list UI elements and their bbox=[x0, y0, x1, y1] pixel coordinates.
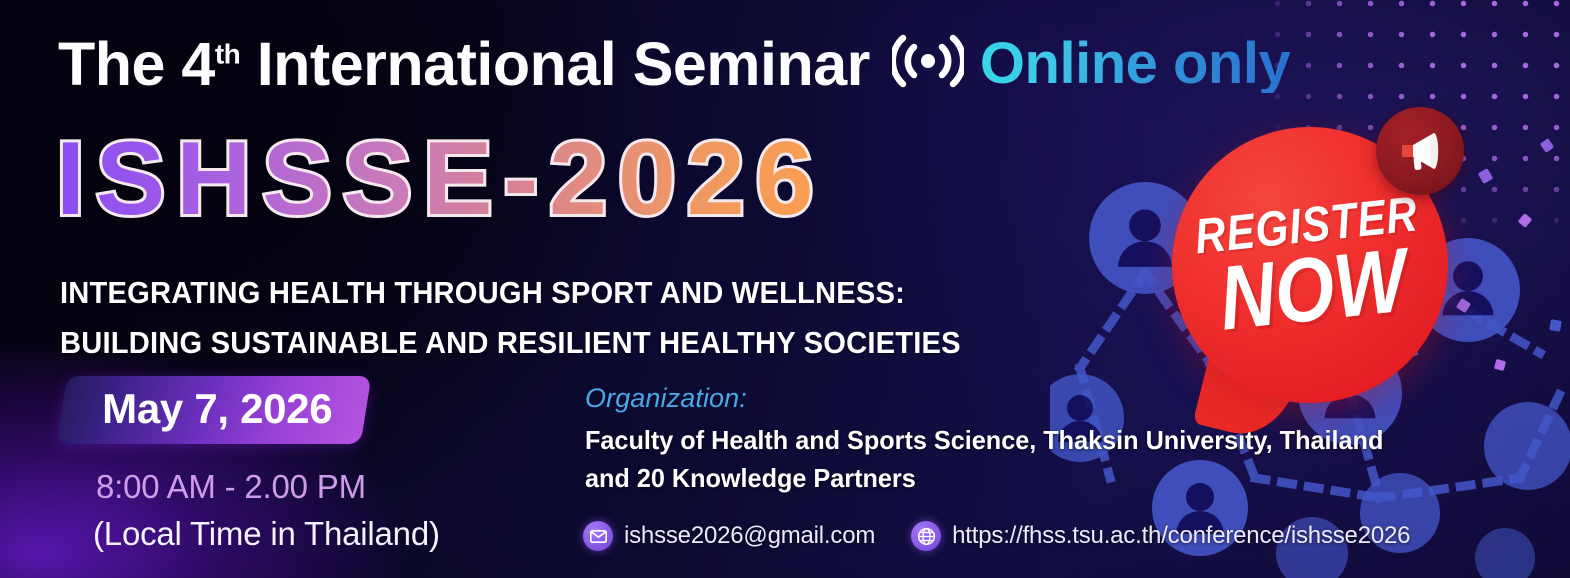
contact-website-text: https://fhss.tsu.ac.th/conference/ishsse… bbox=[952, 522, 1410, 550]
seminar-title-ordinal: th bbox=[215, 38, 240, 69]
seminar-title-suffix: International Seminar bbox=[240, 30, 870, 98]
register-now-button[interactable]: REGISTER NOW bbox=[1172, 127, 1448, 403]
globe-icon bbox=[911, 521, 941, 551]
contact-email-text: ishsse2026@gmail.com bbox=[624, 522, 875, 550]
event-acronym: ISHSSE-2026 bbox=[56, 127, 824, 231]
now-label: NOW bbox=[1215, 236, 1410, 341]
organization-line-1: Faculty of Health and Sports Science, Th… bbox=[585, 422, 1383, 460]
conference-banner: The 4th International Seminar Online onl… bbox=[0, 0, 1570, 578]
contact-website[interactable]: https://fhss.tsu.ac.th/conference/ishsse… bbox=[911, 521, 1410, 551]
envelope-icon bbox=[583, 521, 613, 551]
event-time-label: 8:00 AM - 2.00 PM bbox=[96, 468, 366, 506]
event-date-label: May 7, 2026 bbox=[102, 387, 332, 431]
organization-line-2: and 20 Knowledge Partners bbox=[585, 460, 1383, 498]
page-title: The 4th International Seminar bbox=[58, 34, 870, 95]
seminar-title-prefix: The 4 bbox=[58, 30, 215, 98]
organization-name: Faculty of Health and Sports Science, Th… bbox=[585, 422, 1383, 498]
broadcast-signal-icon bbox=[892, 33, 964, 89]
megaphone-icon bbox=[1376, 107, 1464, 195]
event-date-badge: May 7, 2026 bbox=[57, 376, 372, 444]
online-only-label: Online only bbox=[980, 35, 1290, 93]
contact-row: ishsse2026@gmail.com https://fhss.tsu.ac… bbox=[583, 521, 1410, 551]
subtitle-line-1: INTEGRATING HEALTH THROUGH SPORT AND WEL… bbox=[60, 268, 961, 318]
event-timezone-note: (Local Time in Thailand) bbox=[93, 515, 440, 553]
headline-row: The 4th International Seminar Online onl… bbox=[58, 33, 1290, 95]
event-subtitle: INTEGRATING HEALTH THROUGH SPORT AND WEL… bbox=[60, 268, 961, 368]
subtitle-line-2: BUILDING SUSTAINABLE AND RESILIENT HEALT… bbox=[60, 318, 961, 368]
contact-email[interactable]: ishsse2026@gmail.com bbox=[583, 521, 875, 551]
